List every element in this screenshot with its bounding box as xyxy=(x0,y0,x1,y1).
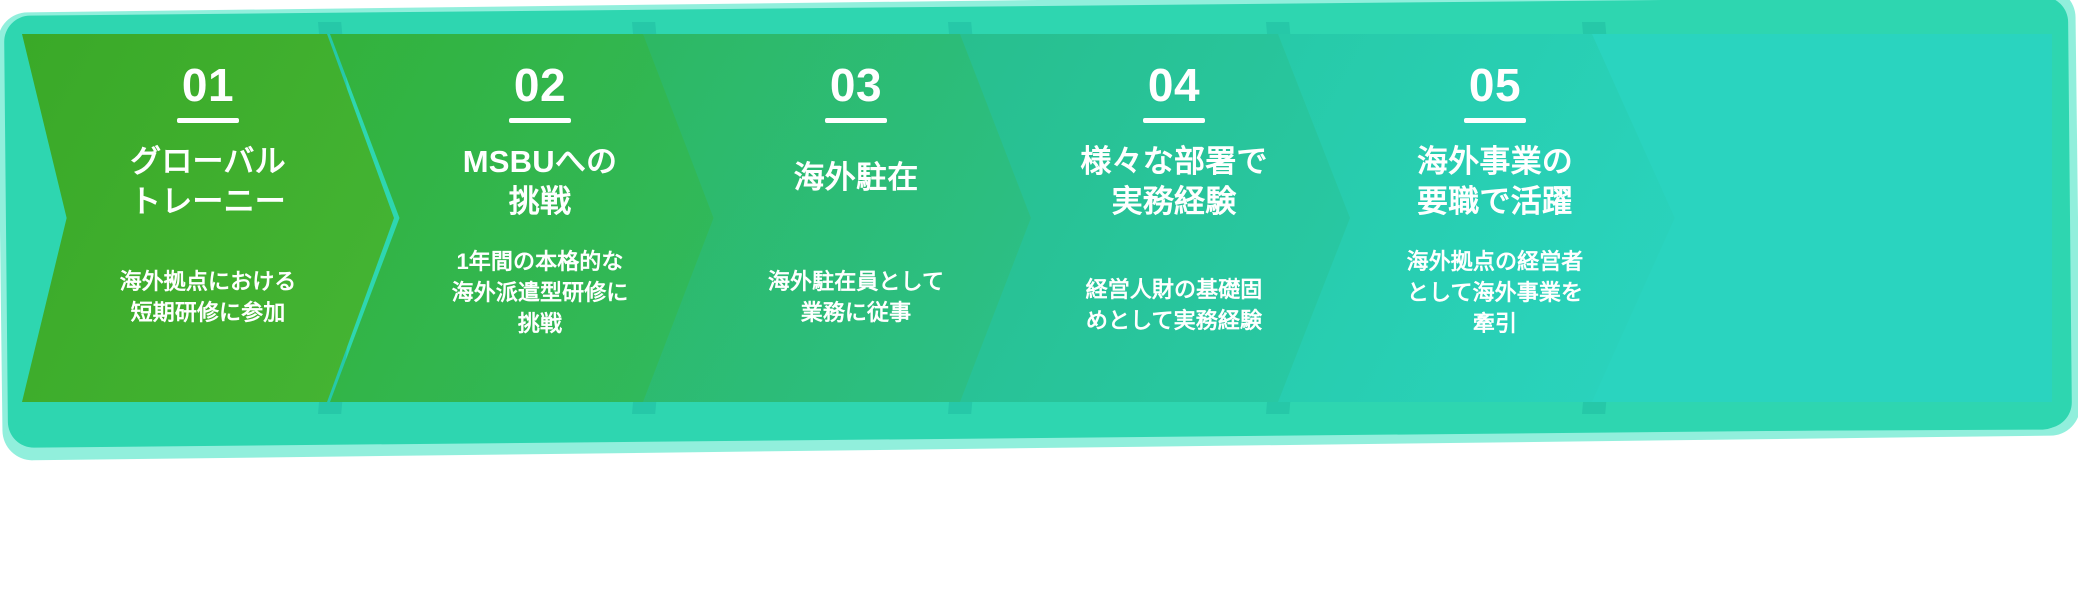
career-step-flow-graphic: 01 グローバル トレーニー 海外拠点における 短期研修に参加 02 xyxy=(0,0,2078,592)
step-title-02: MSBUへの 挑戦 xyxy=(364,142,716,221)
step-number-underline-01 xyxy=(177,118,239,123)
step-title-04: 様々な部署で 実務経験 xyxy=(994,142,1354,221)
step-desc-line: 業務に従事 xyxy=(693,297,1019,328)
chevron-row: 01 グローバル トレーニー 海外拠点における 短期研修に参加 02 xyxy=(0,0,2078,448)
step-desc-line: 挑戦 xyxy=(380,308,700,339)
step-title-line: 挑戦 xyxy=(378,182,702,222)
step-title-line: グローバル xyxy=(36,142,380,182)
step-title-line: トレーニー xyxy=(36,182,380,222)
step-number-underline-05 xyxy=(1464,118,1526,123)
step-desc-line: として海外事業を xyxy=(1328,277,1662,308)
step-desc-line: 海外駐在員として xyxy=(693,266,1019,297)
step-description-05: 海外拠点の経営者 として海外事業を 牽引 xyxy=(1312,246,1678,340)
step-title-05: 海外事業の 要職で活躍 xyxy=(1312,142,1678,221)
step-description-01: 海外拠点における 短期研修に参加 xyxy=(22,266,394,328)
step-number-01: 01 xyxy=(22,62,394,108)
step-desc-line: 海外派遣型研修に xyxy=(380,277,700,308)
step-title-line: MSBUへの xyxy=(378,142,702,182)
step-title-line: 海外駐在 xyxy=(691,158,1021,198)
step-title-01: グローバル トレーニー xyxy=(22,142,394,221)
step-desc-line: 経営人財の基礎固 xyxy=(1010,274,1338,305)
step-desc-line: 海外拠点の経営者 xyxy=(1328,246,1662,277)
step-description-02: 1年間の本格的な 海外派遣型研修に 挑戦 xyxy=(364,246,716,340)
step-desc-line: めとして実務経験 xyxy=(1010,305,1338,336)
step-number-underline-03 xyxy=(825,118,887,123)
step-desc-line: 牽引 xyxy=(1328,308,1662,339)
step-card-01[interactable]: 01 グローバル トレーニー 海外拠点における 短期研修に参加 xyxy=(22,34,394,402)
step-desc-line: 1年間の本格的な xyxy=(380,246,700,277)
step-title-03: 海外駐在 xyxy=(677,158,1035,198)
step-number-underline-04 xyxy=(1143,118,1205,123)
step-number-underline-02 xyxy=(509,118,571,123)
step-title-line: 要職で活躍 xyxy=(1326,182,1664,222)
step-description-04: 経営人財の基礎固 めとして実務経験 xyxy=(994,274,1354,336)
step-description-03: 海外駐在員として 業務に従事 xyxy=(677,266,1035,328)
step-desc-line: 海外拠点における xyxy=(38,266,378,297)
step-title-line: 実務経験 xyxy=(1008,182,1340,222)
step-title-line: 海外事業の xyxy=(1326,142,1664,182)
step-title-line: 様々な部署で xyxy=(1008,142,1340,182)
step-desc-line: 短期研修に参加 xyxy=(38,297,378,328)
